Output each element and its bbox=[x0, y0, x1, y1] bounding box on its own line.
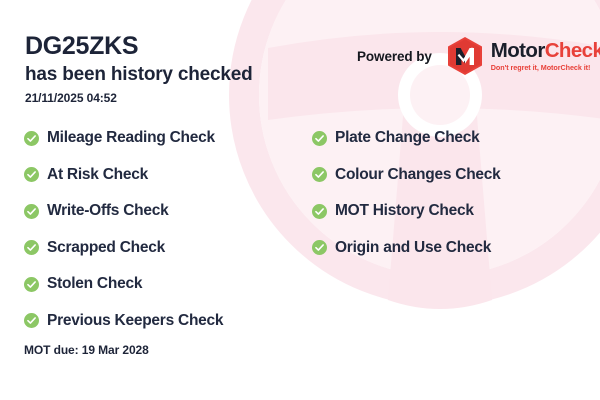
check-timestamp: 21/11/2025 04:52 bbox=[25, 91, 253, 105]
check-item-label: At Risk Check bbox=[47, 166, 148, 184]
green-check-circle-icon bbox=[312, 167, 327, 182]
vehicle-registration: DG25ZKS bbox=[25, 32, 253, 62]
check-item-label: Mileage Reading Check bbox=[47, 129, 215, 147]
header-block: DG25ZKS has been history checked 21/11/2… bbox=[25, 32, 253, 105]
green-check-circle-icon bbox=[312, 240, 327, 255]
check-item-scrapped[interactable]: Scrapped Check bbox=[24, 230, 223, 267]
motorcheck-wordmark: MotorCheck Don't regret it, MotorCheck i… bbox=[491, 41, 600, 71]
check-item-label: Write-Offs Check bbox=[47, 202, 168, 220]
header-subtitle: has been history checked bbox=[25, 63, 253, 87]
check-item-mot-history[interactable]: MOT History Check bbox=[312, 193, 501, 230]
green-check-circle-icon bbox=[24, 240, 39, 255]
check-item-mileage-reading[interactable]: Mileage Reading Check bbox=[24, 120, 223, 157]
motorcheck-logo[interactable]: MotorCheck Don't regret it, MotorCheck i… bbox=[446, 36, 600, 76]
check-item-stolen[interactable]: Stolen Check bbox=[24, 266, 223, 303]
check-item-label: Stolen Check bbox=[47, 275, 142, 293]
green-check-circle-icon bbox=[24, 313, 39, 328]
check-item-label: Previous Keepers Check bbox=[47, 312, 223, 330]
wordmark-motor: Motor bbox=[491, 39, 545, 62]
green-check-circle-icon bbox=[312, 204, 327, 219]
checks-right-column: Plate Change Check Colour Changes Check … bbox=[312, 120, 501, 266]
brand-tagline: Don't regret it, MotorCheck it! bbox=[491, 64, 600, 71]
check-item-label: MOT History Check bbox=[335, 202, 474, 220]
check-item-origin-and-use[interactable]: Origin and Use Check bbox=[312, 230, 501, 267]
vehicle-history-check-card: DG25ZKS has been history checked 21/11/2… bbox=[0, 0, 600, 400]
powered-by-brand-bar: Powered by MotorCheck Don't regret it, M… bbox=[357, 36, 600, 76]
check-item-colour-changes[interactable]: Colour Changes Check bbox=[312, 157, 501, 194]
green-check-circle-icon bbox=[24, 277, 39, 292]
motorcheck-hexagon-m-icon bbox=[446, 36, 484, 76]
check-item-label: Plate Change Check bbox=[335, 129, 480, 147]
powered-by-label: Powered by bbox=[357, 49, 432, 64]
wordmark-check: Check bbox=[545, 39, 600, 62]
green-check-circle-icon bbox=[24, 131, 39, 146]
check-item-at-risk[interactable]: At Risk Check bbox=[24, 157, 223, 194]
check-item-previous-keepers[interactable]: Previous Keepers Check bbox=[24, 303, 223, 340]
check-item-write-offs[interactable]: Write-Offs Check bbox=[24, 193, 223, 230]
green-check-circle-icon bbox=[312, 131, 327, 146]
checks-left-column: Mileage Reading Check At Risk Check Writ… bbox=[24, 120, 223, 339]
check-item-plate-change[interactable]: Plate Change Check bbox=[312, 120, 501, 157]
green-check-circle-icon bbox=[24, 204, 39, 219]
mot-due-label: MOT due: 19 Mar 2028 bbox=[24, 343, 149, 357]
check-item-label: Scrapped Check bbox=[47, 239, 165, 257]
check-item-label: Colour Changes Check bbox=[335, 166, 501, 184]
green-check-circle-icon bbox=[24, 167, 39, 182]
check-item-label: Origin and Use Check bbox=[335, 239, 491, 257]
